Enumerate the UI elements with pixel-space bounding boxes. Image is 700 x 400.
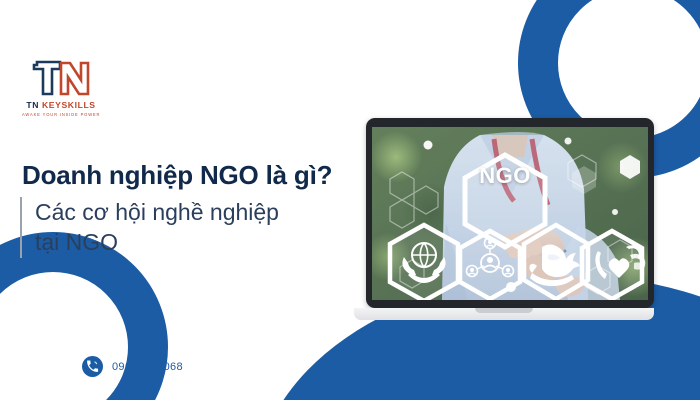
laptop-mockup: NGO	[360, 118, 660, 320]
laptop-base	[354, 308, 654, 320]
phone-icon	[82, 356, 103, 377]
ngo-label: NGO	[465, 163, 545, 189]
hexagon-network-overlay	[372, 127, 648, 300]
logo-wordmark-tn: TN	[26, 100, 42, 110]
contact-phone[interactable]: 096 269 1068	[82, 356, 183, 377]
laptop-lid: NGO	[366, 118, 654, 308]
subtitle-block: Các cơ hội nghề nghiệp tại NGO	[20, 197, 279, 258]
logo-wordmark-keyskills: KEYSKILLS	[42, 100, 96, 110]
tn-monogram-icon	[30, 58, 92, 98]
ngo-article-banner: TN KEYSKILLS AWAKE YOUR INSIDE POWER Doa…	[0, 0, 700, 400]
brand-logo[interactable]: TN KEYSKILLS AWAKE YOUR INSIDE POWER	[22, 58, 100, 117]
laptop-screen: NGO	[372, 127, 648, 300]
hex-hands-globe	[390, 225, 458, 300]
page-title: Doanh nghiệp NGO là gì?	[22, 160, 332, 191]
logo-tagline: AWAKE YOUR INSIDE POWER	[22, 112, 100, 117]
phone-number: 096 269 1068	[112, 361, 183, 373]
subtitle-line-1: Các cơ hội nghề nghiệp	[35, 197, 279, 227]
subtitle-line-2: tại NGO	[35, 227, 279, 257]
logo-wordmark: TN KEYSKILLS	[22, 101, 100, 110]
